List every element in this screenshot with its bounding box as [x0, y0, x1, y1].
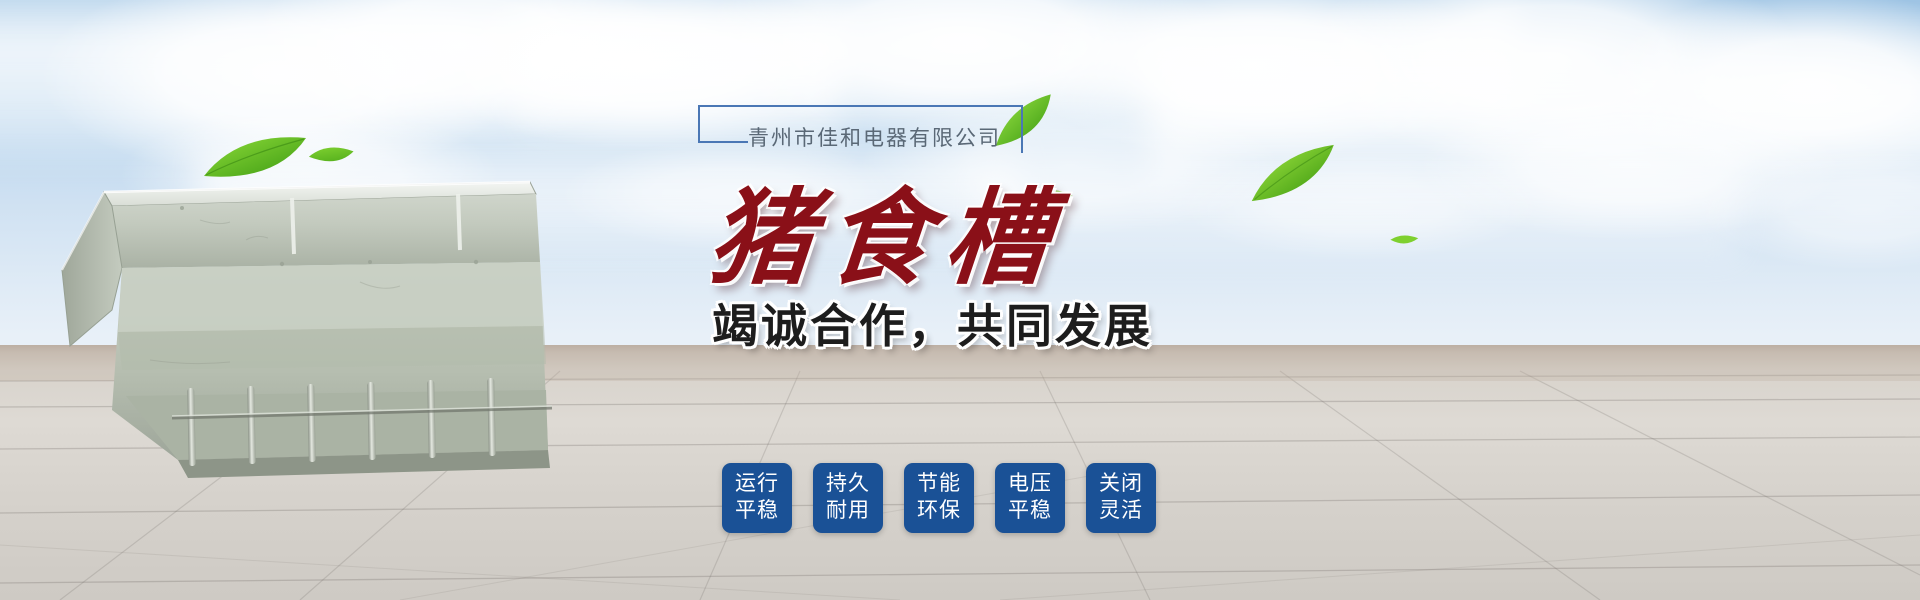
badge-line-1: 节能	[917, 471, 961, 498]
badge-line-1: 电压	[1008, 471, 1052, 498]
product-image-pig-feeding-trough	[60, 150, 580, 480]
badge-line-2: 灵活	[1099, 498, 1143, 525]
company-name: 青州市佳和电器有限公司	[748, 122, 1001, 152]
badge-line-2: 平稳	[735, 498, 779, 525]
badge-line-2: 环保	[917, 498, 961, 525]
feature-badge[interactable]: 关闭 灵活	[1086, 463, 1156, 533]
subtitle-slogan: 竭诚合作，共同发展	[712, 290, 1153, 356]
badge-line-2: 平稳	[1008, 498, 1052, 525]
feature-badge-list: 运行 平稳 持久 耐用 节能 环保 电压 平稳 关闭 灵活	[722, 463, 1156, 533]
page-title: 猪食槽	[703, 153, 1070, 304]
feature-badge[interactable]: 持久 耐用	[813, 463, 883, 533]
promotional-banner: 青州市佳和电器有限公司 猪食槽 竭诚合作，共同发展 运行 平稳 持久 耐用 节能…	[0, 0, 1920, 600]
feature-badge[interactable]: 节能 环保	[904, 463, 974, 533]
badge-line-1: 运行	[735, 471, 779, 498]
badge-line-1: 关闭	[1099, 471, 1143, 498]
feature-badge[interactable]: 电压 平稳	[995, 463, 1065, 533]
feature-badge[interactable]: 运行 平稳	[722, 463, 792, 533]
badge-line-1: 持久	[826, 471, 870, 498]
badge-line-2: 耐用	[826, 498, 870, 525]
text-content-block: 青州市佳和电器有限公司 猪食槽 竭诚合作，共同发展	[690, 95, 1310, 475]
